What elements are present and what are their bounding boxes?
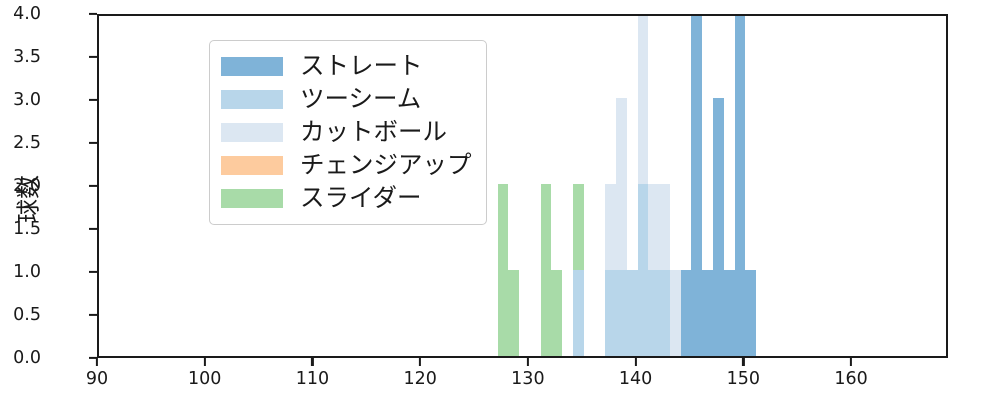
legend-label: スライダー: [300, 186, 422, 211]
bar-ツーシーム-141: [648, 270, 659, 356]
y-tick-mark: [89, 142, 97, 144]
y-tick-label: 2.5: [13, 133, 41, 153]
legend-item-3[interactable]: チェンジアップ: [221, 149, 472, 182]
bar-カットボール-137: [605, 184, 616, 270]
y-tick-mark: [89, 271, 97, 273]
bar-カットボール-138: [616, 98, 627, 270]
y-tick-mark: [89, 314, 97, 316]
y-tick-mark: [89, 99, 97, 101]
legend-label: ストレート: [300, 54, 423, 79]
bar-ストレート-144: [681, 270, 692, 356]
x-tick-mark: [742, 358, 744, 366]
bar-ツーシーム-142: [659, 270, 670, 356]
legend-item-4[interactable]: スライダー: [221, 182, 472, 215]
y-tick-label: 1.0: [13, 262, 41, 282]
bar-ツーシーム-140: [638, 184, 649, 356]
bar-ストレート-145: [691, 16, 702, 356]
x-axis-ticks: 90100110120130140150160: [0, 358, 1000, 400]
bar-スライダー-127: [498, 184, 509, 356]
bar-ツーシーム-134: [573, 270, 584, 356]
x-tick-label: 150: [727, 369, 760, 389]
y-tick-mark: [89, 13, 97, 15]
legend-label: カットボール: [300, 120, 447, 145]
x-tick-mark: [96, 358, 98, 366]
bar-ストレート-150: [745, 270, 756, 356]
y-tick-label: 0.5: [13, 305, 41, 325]
x-tick-label: 160: [834, 369, 867, 389]
y-tick-label: 2.0: [13, 176, 41, 196]
bar-カットボール-141: [648, 184, 659, 270]
x-tick-label: 120: [403, 369, 436, 389]
bar-スライダー-132: [551, 270, 562, 356]
x-tick-mark: [419, 358, 421, 366]
bar-カットボール-143: [670, 270, 681, 356]
legend-swatch-icon: [221, 156, 283, 175]
plot-area: ストレートツーシームカットボールチェンジアップスライダー: [97, 14, 948, 358]
bar-ツーシーム-139: [627, 270, 638, 356]
bar-ストレート-146: [702, 270, 713, 356]
legend-item-0[interactable]: ストレート: [221, 50, 472, 83]
legend-item-2[interactable]: カットボール: [221, 116, 472, 149]
bar-カットボール-142: [659, 184, 670, 270]
bar-カットボール-140: [638, 16, 649, 184]
pitch-velocity-histogram: 球数 0.00.51.01.52.02.53.03.54.0 ストレートツーシー…: [0, 0, 1000, 400]
legend-swatch-icon: [221, 123, 283, 142]
x-tick-label: 100: [188, 369, 221, 389]
bar-ストレート-149: [735, 16, 746, 356]
x-tick-mark: [311, 358, 313, 366]
x-tick-mark: [527, 358, 529, 366]
x-tick-label: 90: [86, 369, 108, 389]
x-tick-mark: [635, 358, 637, 366]
bar-ツーシーム-137: [605, 270, 616, 356]
legend-swatch-icon: [221, 189, 283, 208]
legend-label: チェンジアップ: [300, 153, 472, 178]
y-tick-label: 1.5: [13, 219, 41, 239]
bar-スライダー-131: [541, 184, 552, 356]
x-tick-label: 110: [296, 369, 329, 389]
x-tick-mark: [850, 358, 852, 366]
bar-ツーシーム-138: [616, 270, 627, 356]
y-tick-mark: [89, 185, 97, 187]
bar-ストレート-148: [724, 270, 735, 356]
x-tick-mark: [204, 358, 206, 366]
y-tick-label: 3.0: [13, 90, 41, 110]
legend-swatch-icon: [221, 57, 283, 76]
y-tick-mark: [89, 228, 97, 230]
y-tick-label: 3.5: [13, 47, 41, 67]
y-tick-mark: [89, 56, 97, 58]
x-tick-label: 140: [619, 369, 652, 389]
y-axis-ticks: 0.00.51.01.52.02.53.03.54.0: [0, 0, 97, 400]
x-tick-label: 130: [511, 369, 544, 389]
bar-ストレート-147: [713, 98, 724, 356]
bar-スライダー-134: [573, 184, 584, 270]
legend: ストレートツーシームカットボールチェンジアップスライダー: [209, 40, 487, 225]
legend-label: ツーシーム: [300, 87, 421, 112]
bar-スライダー-128: [508, 270, 519, 356]
y-tick-label: 4.0: [13, 4, 41, 24]
legend-item-1[interactable]: ツーシーム: [221, 83, 472, 116]
legend-swatch-icon: [221, 90, 283, 109]
